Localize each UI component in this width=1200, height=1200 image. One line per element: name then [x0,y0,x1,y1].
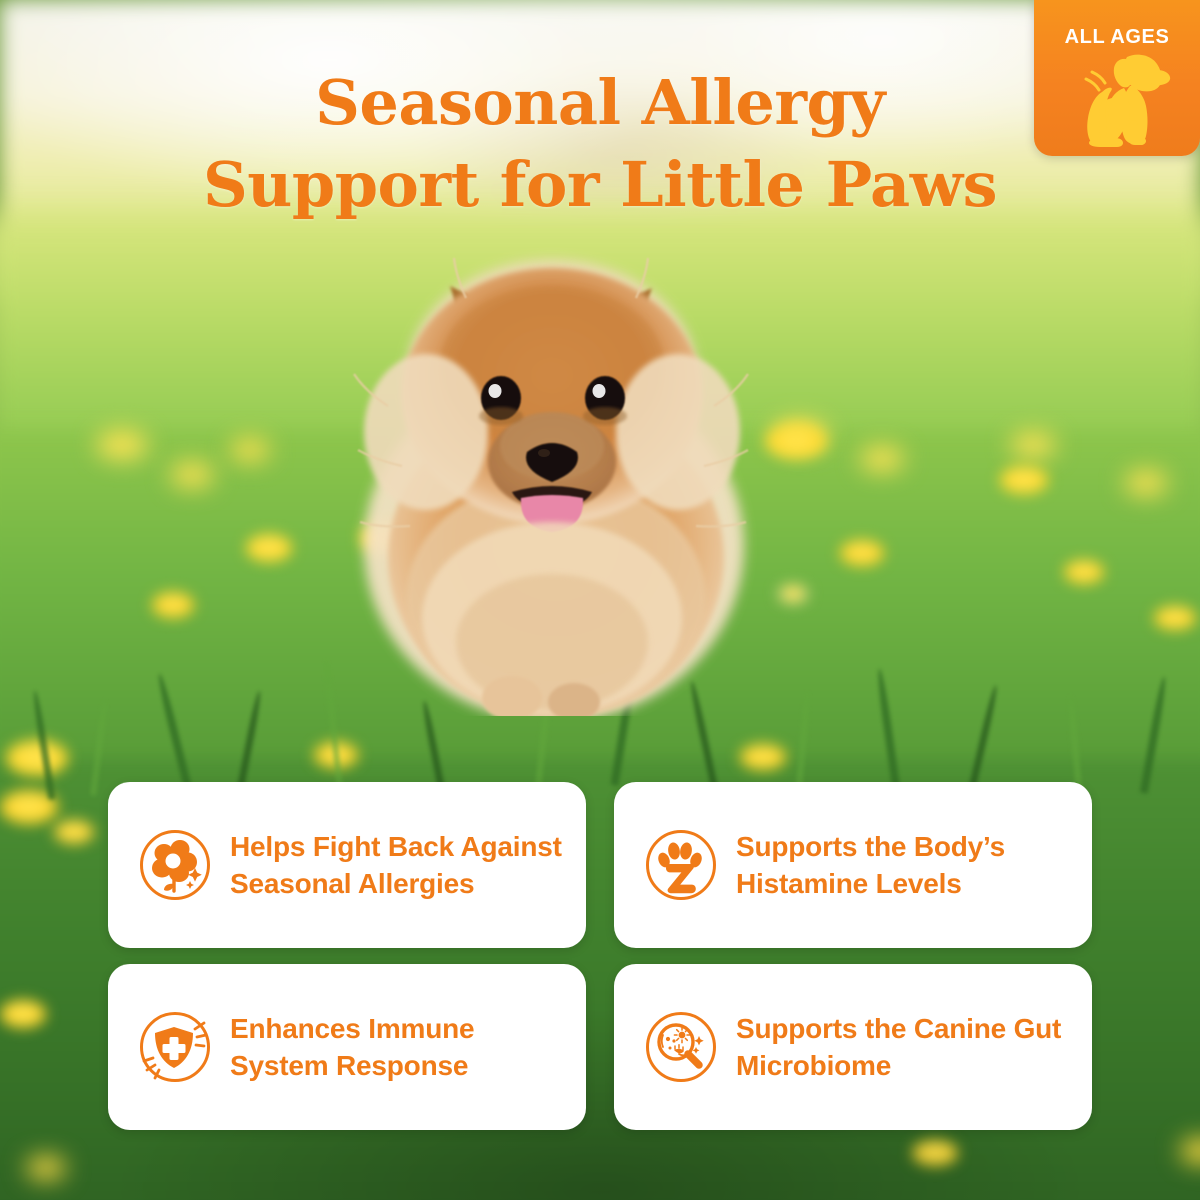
dandelion [170,462,214,488]
dandelion [0,1000,46,1028]
paw-z-icon [644,828,718,902]
pomeranian-dog-photo [316,246,786,716]
headline-line-1: Seasonal Allergy [0,62,1200,144]
benefit-card-histamine[interactable]: Supports the Body’s Histamine Levels [614,782,1092,948]
sitting-dog-icon [1064,48,1172,153]
benefit-label: Supports the Canine Gut Microbiome [736,1010,1078,1084]
magnifier-microbe-icon [644,1010,718,1084]
shield-plus-icon [138,1010,212,1084]
benefit-card-immune[interactable]: Enhances Immune System Response [108,964,586,1130]
dandelion [230,438,270,462]
dandelion [1064,560,1104,584]
dandelion [96,430,148,460]
all-ages-badge: ALL AGES [1034,0,1200,156]
dandelion [246,534,292,562]
all-ages-label: ALL AGES [1034,26,1200,49]
benefit-label: Helps Fight Back Against Seasonal Allerg… [230,828,572,902]
dandelion [54,820,94,844]
dandelion [1124,470,1168,496]
dandelion [740,744,786,770]
dandelion [912,1140,958,1166]
flower-sparkle-icon [138,828,212,902]
benefits-grid: Helps Fight Back Against Seasonal Allerg… [108,782,1092,1130]
dandelion [860,446,904,472]
benefit-card-microbiome[interactable]: Supports the Canine Gut Microbiome [614,964,1092,1130]
dandelion [1010,432,1056,458]
dandelion [1000,466,1048,494]
headline-line-2: Support for Little Paws [0,144,1200,226]
benefit-label: Supports the Body’s Histamine Levels [736,828,1078,902]
benefit-label: Enhances Immune System Response [230,1010,572,1084]
dandelion [1154,606,1196,630]
benefit-card-allergies[interactable]: Helps Fight Back Against Seasonal Allerg… [108,782,586,948]
dandelion [152,592,194,618]
dandelion [26,1156,66,1180]
page-title: Seasonal Allergy Support for Little Paws [0,62,1200,226]
dandelion [840,540,884,566]
dandelion [6,740,68,776]
